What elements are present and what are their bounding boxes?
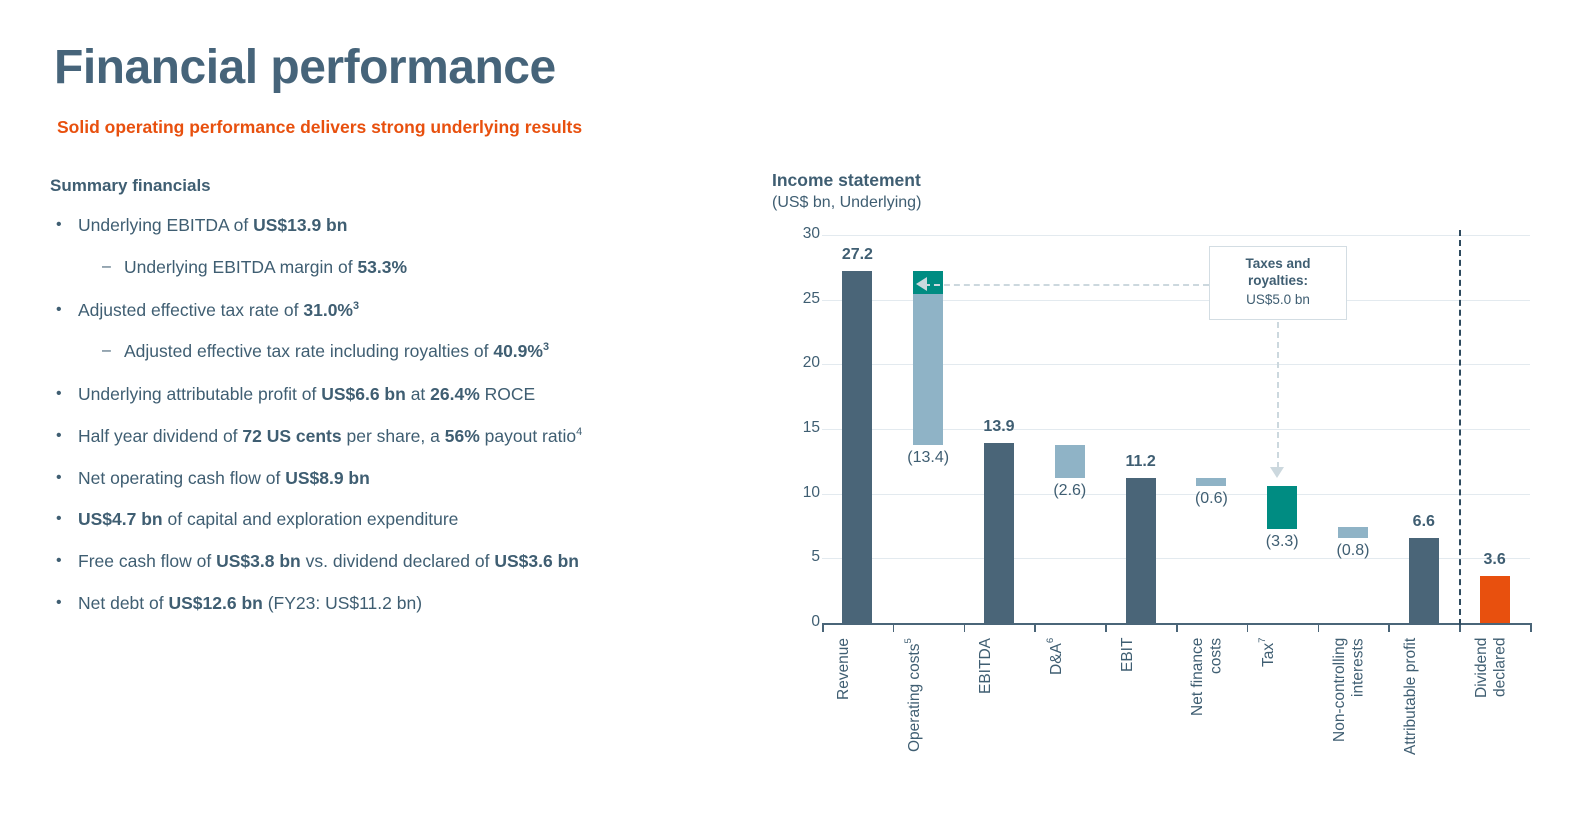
summary-bullet-text: Net debt of US$12.6 bn (FY23: US$11.2 bn… xyxy=(78,592,750,615)
x-axis-tick xyxy=(1176,623,1178,632)
x-axis-tick xyxy=(1105,623,1107,632)
bar-value-label: (0.8) xyxy=(1308,542,1398,560)
summary-bullet: •Adjusted effective tax rate of 31.0%3 xyxy=(50,299,750,322)
summary-bullet-text: Half year dividend of 72 US cents per sh… xyxy=(78,425,750,448)
bullet-marker-icon: • xyxy=(56,299,78,321)
summary-bullet-text: Free cash flow of US$3.8 bn vs. dividend… xyxy=(78,550,750,573)
bullet-marker-icon: • xyxy=(56,508,78,530)
bar-value-label: 11.2 xyxy=(1096,453,1186,471)
x-axis-category-label: D&A6 xyxy=(1048,638,1092,808)
callout-arrow-left-icon xyxy=(916,277,927,291)
bar xyxy=(842,271,872,623)
x-axis-category-label: Tax7 xyxy=(1260,638,1304,808)
callout-connector-horizontal xyxy=(924,284,1209,286)
x-axis-tick xyxy=(822,623,824,632)
y-axis-tick-label: 0 xyxy=(780,613,820,631)
summary-bullet-text: Adjusted effective tax rate of 31.0%3 xyxy=(78,299,750,322)
callout-arrow-down-icon xyxy=(1270,467,1284,478)
x-axis-category-label: Revenue xyxy=(835,638,879,808)
bullet-marker-icon: – xyxy=(102,340,124,362)
summary-bullet: •US$4.7 bn of capital and exploration ex… xyxy=(50,508,750,531)
bar xyxy=(1267,486,1297,529)
income-statement-chart: Income statement (US$ bn, Underlying) 05… xyxy=(772,170,1562,810)
bullet-marker-icon: • xyxy=(56,592,78,614)
bar xyxy=(1055,445,1085,479)
x-axis-category-label: Operating costs5 xyxy=(906,638,950,808)
x-axis-category-label: Non-controlling interests xyxy=(1331,638,1375,808)
bullet-marker-icon: • xyxy=(56,383,78,405)
bar xyxy=(1126,478,1156,623)
x-axis-category-label: Attributable profit xyxy=(1402,638,1446,808)
summary-bullet: –Adjusted effective tax rate including r… xyxy=(50,340,750,363)
summary-bullet: •Underlying EBITDA of US$13.9 bn xyxy=(50,214,750,237)
y-axis-tick-label: 20 xyxy=(780,354,820,372)
bullet-marker-icon: • xyxy=(56,467,78,489)
summary-bullet: •Net operating cash flow of US$8.9 bn xyxy=(50,467,750,490)
bar xyxy=(984,443,1014,623)
y-axis-tick-label: 25 xyxy=(780,290,820,308)
gridline xyxy=(822,235,1530,236)
summary-bullet-text: Underlying attributable profit of US$6.6… xyxy=(78,383,750,406)
bar-value-label: 13.9 xyxy=(954,418,1044,436)
summary-bullet-text: US$4.7 bn of capital and exploration exp… xyxy=(78,508,750,531)
summary-heading: Summary financials xyxy=(50,176,750,196)
bullet-marker-icon: – xyxy=(102,256,124,278)
plot-area: 051015202530 27.2(13.4)13.9(2.6)11.2(0.6… xyxy=(772,170,1562,810)
summary-bullet-text: Underlying EBITDA of US$13.9 bn xyxy=(78,214,750,237)
bar xyxy=(1338,527,1368,537)
summary-bullet: •Half year dividend of 72 US cents per s… xyxy=(50,425,750,448)
summary-bullet-text: Adjusted effective tax rate including ro… xyxy=(124,340,750,363)
bar-value-label: (2.6) xyxy=(1025,482,1115,500)
bar-value-label: 27.2 xyxy=(812,246,902,264)
bar xyxy=(1409,538,1439,623)
summary-bullet-text: Net operating cash flow of US$8.9 bn xyxy=(78,467,750,490)
summary-bullet: •Underlying attributable profit of US$6.… xyxy=(50,383,750,406)
x-axis-tick xyxy=(893,623,895,632)
x-axis-tick xyxy=(1034,623,1036,632)
summary-bullet: •Free cash flow of US$3.8 bn vs. dividen… xyxy=(50,550,750,573)
dividend-divider xyxy=(1459,230,1461,625)
x-axis-category-label: EBITDA xyxy=(977,638,1021,808)
bar-segment xyxy=(913,294,943,444)
callout-connector-vertical xyxy=(1277,302,1279,468)
bar-value-label: 6.6 xyxy=(1379,513,1469,531)
bar-value-label: (13.4) xyxy=(883,449,973,467)
y-axis-tick-label: 15 xyxy=(780,419,820,437)
summary-financials-panel: Summary financials •Underlying EBITDA of… xyxy=(50,176,750,634)
bar-value-label: (0.6) xyxy=(1166,490,1256,508)
x-axis-tick xyxy=(1388,623,1390,632)
x-axis-category-label: Dividend declared xyxy=(1473,638,1517,808)
x-axis-tick xyxy=(1318,623,1320,632)
bar xyxy=(1480,576,1510,623)
x-axis-category-label: EBIT xyxy=(1119,638,1163,808)
x-axis-tick xyxy=(1530,623,1532,632)
taxes-royalties-callout: Taxes and royalties: US$5.0 bn xyxy=(1209,246,1347,320)
summary-bullet: –Underlying EBITDA margin of 53.3% xyxy=(50,256,750,279)
y-axis-tick-label: 5 xyxy=(780,548,820,566)
y-axis-tick-label: 10 xyxy=(780,484,820,502)
callout-line-2: royalties: xyxy=(1216,273,1340,290)
summary-bullet-list: •Underlying EBITDA of US$13.9 bn–Underly… xyxy=(50,214,750,615)
bullet-marker-icon: • xyxy=(56,550,78,572)
page-subtitle: Solid operating performance delivers str… xyxy=(57,117,582,138)
callout-value: US$5.0 bn xyxy=(1216,291,1340,309)
x-axis-tick xyxy=(964,623,966,632)
y-axis-tick-label: 30 xyxy=(780,225,820,243)
callout-line-1: Taxes and xyxy=(1216,256,1340,273)
summary-bullet: •Net debt of US$12.6 bn (FY23: US$11.2 b… xyxy=(50,592,750,615)
bullet-marker-icon: • xyxy=(56,425,78,447)
page-title: Financial performance xyxy=(54,40,556,95)
bar-value-label: 3.6 xyxy=(1450,551,1540,569)
x-axis-category-label: Net finance costs xyxy=(1189,638,1233,808)
summary-bullet-text: Underlying EBITDA margin of 53.3% xyxy=(124,256,750,279)
bar xyxy=(1196,478,1226,486)
bullet-marker-icon: • xyxy=(56,214,78,236)
x-axis-tick xyxy=(1247,623,1249,632)
